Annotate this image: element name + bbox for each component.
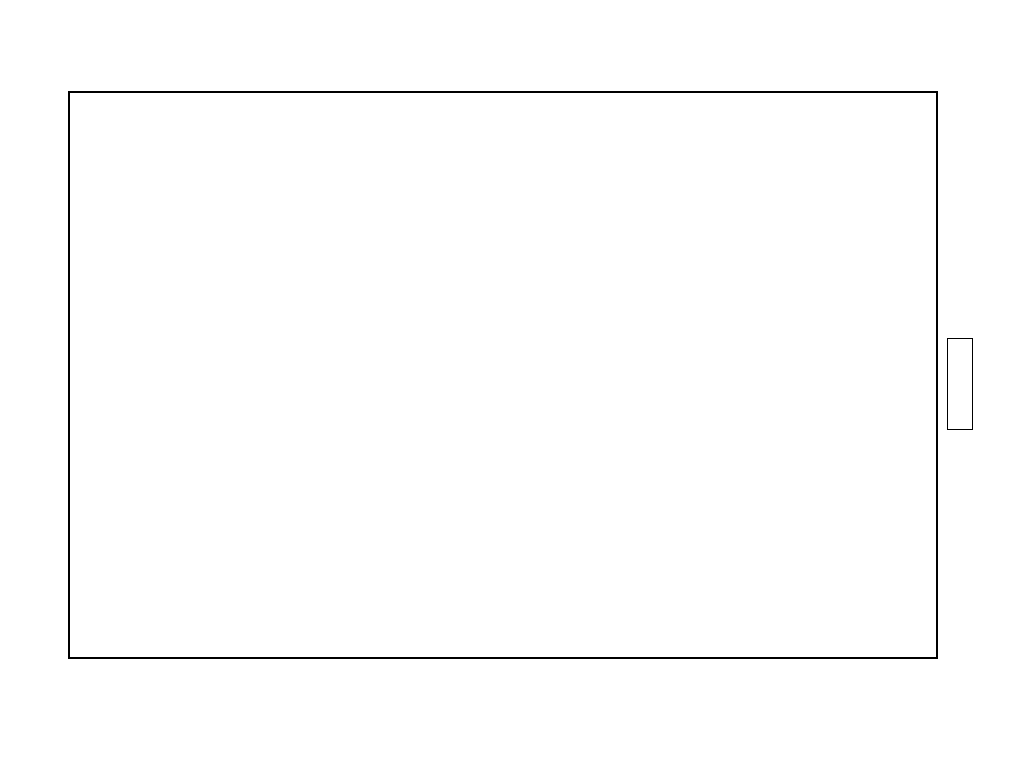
y-axis [0, 0, 1024, 768]
colorbar [947, 338, 973, 430]
chart-page [0, 0, 1024, 768]
